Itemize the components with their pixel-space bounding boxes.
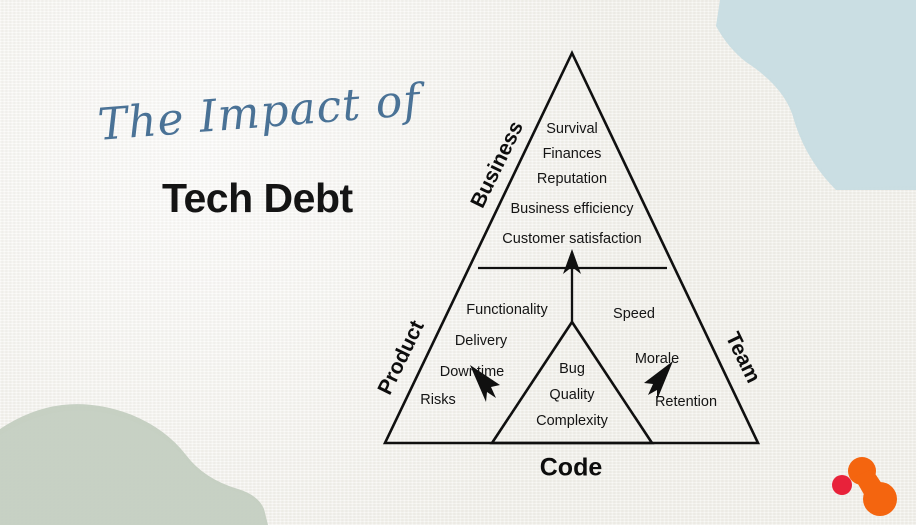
- team-item-3: Retention: [655, 394, 717, 410]
- infographic-canvas: The Impact of Tech Debt Survival Finance…: [0, 0, 916, 525]
- code-item-3: Complexity: [536, 413, 608, 429]
- product-item-3: Downtime: [440, 364, 504, 380]
- product-item-1: Functionality: [466, 302, 548, 318]
- product-item-2: Delivery: [455, 333, 508, 349]
- logo-orange-molecule: [848, 457, 897, 516]
- business-item-4: Business efficiency: [510, 201, 634, 217]
- business-item-3: Reputation: [537, 171, 607, 187]
- business-item-5: Customer satisfaction: [502, 231, 641, 247]
- team-item-2: Morale: [635, 351, 679, 367]
- edge-label-product: Product: [373, 317, 428, 398]
- brand-logo: [832, 455, 904, 517]
- logo-red-dot: [832, 475, 852, 495]
- outer-triangle-outline: [385, 53, 758, 443]
- product-item-4: Risks: [420, 392, 455, 408]
- code-item-2: Quality: [549, 387, 595, 403]
- edge-label-code: Code: [540, 454, 603, 482]
- business-item-2: Finances: [543, 146, 602, 162]
- code-item-1: Bug: [559, 361, 585, 377]
- tech-debt-pyramid-diagram: Survival Finances Reputation Business ef…: [0, 0, 916, 525]
- team-item-1: Speed: [613, 306, 655, 322]
- business-item-1: Survival: [546, 121, 598, 137]
